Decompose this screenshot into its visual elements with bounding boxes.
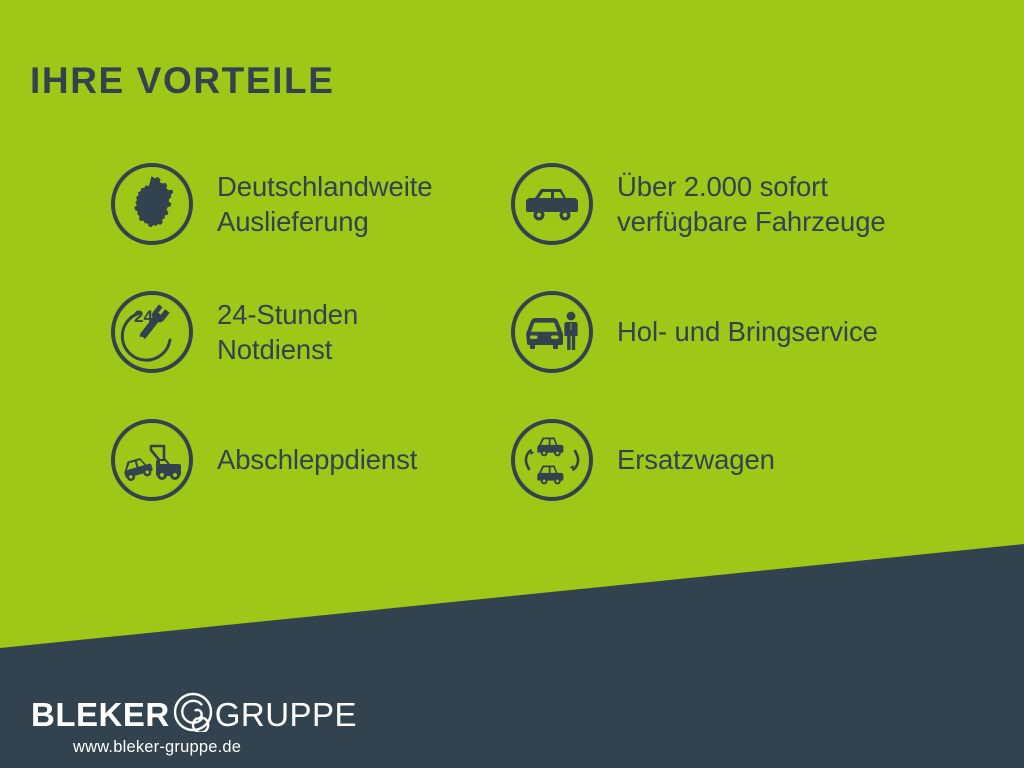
spiral-swirl-icon	[173, 692, 213, 737]
24-hour-wrench-icon: 24	[111, 291, 193, 373]
benefit-label: Hol- und Bringservice	[617, 314, 878, 349]
benefit-item-deutschlandweite-auslieferung: Deutschlandweite Auslieferung	[111, 163, 432, 245]
car-side-icon	[511, 163, 593, 245]
tow-truck-icon	[111, 419, 193, 501]
germany-map-icon	[111, 163, 193, 245]
car-with-driver-icon	[511, 291, 593, 373]
logo-secondary-text: GRUPPE	[215, 698, 357, 731]
benefit-item-ersatzwagen: Ersatzwagen	[511, 419, 775, 501]
two-cars-exchange-icon	[511, 419, 593, 501]
footer-logo-block[interactable]: BLEKER GRUPPE www.bleker-gruppe.de	[31, 694, 357, 757]
green-background-panel	[0, 0, 1024, 768]
website-url[interactable]: www.bleker-gruppe.de	[73, 738, 357, 757]
benefit-item-24-stunden-notdienst: 24 24-Stunden Notdienst	[111, 291, 358, 373]
logo-wordmark: BLEKER GRUPPE	[31, 694, 357, 734]
benefit-item-hol-und-bringservice: Hol- und Bringservice	[511, 291, 878, 373]
logo-primary-text: BLEKER	[31, 698, 170, 731]
benefit-item-verfuegbare-fahrzeuge: Über 2.000 sofort verfügbare Fahrzeuge	[511, 163, 886, 245]
page-title: IHRE VORTEILE	[30, 62, 335, 99]
benefit-label: 24-Stunden Notdienst	[217, 297, 358, 368]
benefit-label: Abschleppdienst	[217, 442, 417, 477]
benefit-label: Deutschlandweite Auslieferung	[217, 169, 432, 240]
slide-canvas: IHRE VORTEILE Deutschlandweite Ausliefer…	[0, 0, 1024, 768]
benefit-label: Ersatzwagen	[617, 442, 775, 477]
benefit-item-abschleppdienst: Abschleppdienst	[111, 419, 417, 501]
benefit-label: Über 2.000 sofort verfügbare Fahrzeuge	[617, 169, 886, 240]
